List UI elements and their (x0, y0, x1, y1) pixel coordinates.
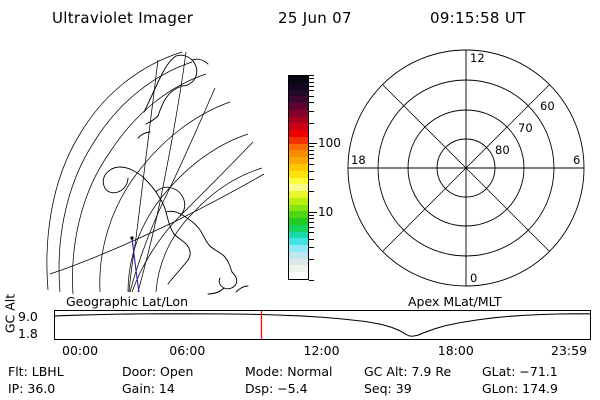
colorbar-band-3 (289, 252, 308, 259)
colorbar-minor-tick (309, 215, 314, 216)
observation-time: 09:15:58 UT (430, 9, 526, 27)
instrument-title: Ultraviolet Imager (52, 9, 193, 27)
colorbar-band-19 (289, 144, 308, 151)
colorbar-minor-tick (309, 179, 314, 180)
altitude-axis-title-gc: GC (3, 315, 18, 333)
time-tick-0000: 00:00 (62, 343, 98, 358)
mlat-label-70: 70 (518, 121, 533, 135)
colorbar-band-2 (289, 259, 308, 266)
colorbar-band-0 (289, 272, 308, 279)
time-tick-0600: 06:00 (169, 343, 205, 358)
apex-polar-panel[interactable]: 60 70 80 12 6 0 18 (337, 42, 595, 294)
colorbar-band-16 (289, 164, 308, 171)
colorbar-minor-tick (309, 232, 314, 233)
colorbar-minor-tick (309, 158, 314, 159)
colorbar-minor-tick (309, 164, 314, 165)
altitude-timeline-plot[interactable] (54, 310, 591, 340)
colorbar-band-6 (289, 232, 308, 239)
colorbar-band-5 (289, 238, 308, 245)
status-readout: Flt: LBHL Door: Open Mode: Normal GC Alt… (0, 363, 600, 397)
colorbar-minor-tick (309, 75, 314, 76)
colorbar-minor-tick (309, 78, 314, 79)
status-ip: IP: 36.0 (8, 380, 55, 397)
colorbar-band-13 (289, 184, 308, 191)
altitude-ytick-low: 1.8 (18, 326, 38, 341)
colorbar-scale[interactable] (288, 75, 309, 280)
colorbar-band-27 (289, 90, 308, 97)
colorbar-band-9 (289, 211, 308, 218)
colorbar-band-1 (289, 265, 308, 272)
colorbar-band-24 (289, 110, 308, 117)
colorbar-band-10 (289, 205, 308, 212)
colorbar-band-20 (289, 137, 308, 144)
geographic-map-panel[interactable] (40, 42, 265, 294)
time-tick-2359: 23:59 (551, 343, 587, 358)
mlat-label-60: 60 (540, 99, 555, 113)
status-seq: Seq: 39 (364, 380, 412, 397)
colorbar-minor-tick (309, 123, 314, 124)
colorbar-group[interactable]: photon cm-2s-1 10010 (266, 60, 338, 295)
colorbar-minor-tick (309, 222, 314, 223)
colorbar-band-15 (289, 171, 308, 178)
longitude-grid-lines (50, 52, 264, 292)
mlat-label-80: 80 (495, 143, 510, 157)
geographic-panel-caption: Geographic Lat/Lon (66, 294, 188, 309)
colorbar-minor-tick (309, 218, 314, 219)
colorbar-minor-tick (309, 90, 314, 91)
mlat-ring-labels: 60 70 80 (495, 99, 555, 157)
status-door: Door: Open (122, 363, 193, 380)
observation-date: 25 Jun 07 (278, 9, 352, 27)
colorbar-tick-label-10: 10 (318, 206, 333, 218)
colorbar-band-25 (289, 103, 308, 110)
colorbar-band-23 (289, 117, 308, 124)
colorbar-band-28 (289, 83, 308, 90)
mlt-label-18: 18 (351, 153, 366, 167)
mlt-label-6: 6 (573, 153, 580, 167)
colorbar-minor-tick (309, 146, 314, 147)
apex-panel-caption: Apex MLat/MLT (408, 294, 502, 309)
apex-polar-svg: 60 70 80 12 6 0 18 (337, 42, 595, 294)
altitude-axis-title-alt: Alt (3, 294, 18, 311)
colorbar-minor-tick (309, 191, 314, 192)
colorbar-minor-tick (309, 86, 314, 87)
colorbar-minor-tick (309, 227, 314, 228)
pole-marker (130, 236, 133, 239)
colorbar-minor-tick (309, 239, 314, 240)
colorbar-band-29 (289, 76, 308, 83)
colorbar-band-12 (289, 191, 308, 198)
colorbar-band-18 (289, 150, 308, 157)
colorbar-band-7 (289, 225, 308, 232)
colorbar-minor-tick (309, 154, 314, 155)
time-tick-1200: 12:00 (304, 343, 340, 358)
uv-imager-display: Ultraviolet Imager 25 Jun 07 09:15:58 UT (0, 0, 600, 400)
status-gain: Gain: 14 (122, 380, 175, 397)
altitude-trace (55, 314, 590, 336)
header-bar: Ultraviolet Imager 25 Jun 07 09:15:58 UT (0, 6, 600, 30)
status-gcalt: GC Alt: 7.9 Re (364, 363, 451, 380)
colorbar-minor-tick (309, 102, 314, 103)
colorbar-band-21 (289, 130, 308, 137)
colorbar-band-4 (289, 245, 308, 252)
geographic-map-svg (40, 42, 265, 294)
mlt-label-12: 12 (470, 51, 485, 65)
status-mode: Mode: Normal (245, 363, 332, 380)
colorbar-band-22 (289, 123, 308, 130)
coastline-outline (103, 55, 248, 294)
colorbar-band-11 (289, 198, 308, 205)
colorbar-minor-tick (309, 171, 314, 172)
altitude-ytick-high: 9.0 (18, 309, 38, 324)
colorbar-band-14 (289, 178, 308, 185)
status-row-2: IP: 36.0 Gain: 14 Dsp: −5.4 Seq: 39 GLon… (0, 380, 600, 397)
time-axis-ticks: 00:0006:0012:0018:0023:59 (0, 343, 600, 359)
colorbar-major-tick-100 (309, 143, 317, 144)
colorbar-minor-tick (309, 82, 314, 83)
status-glon: GLon: 174.9 (482, 380, 558, 397)
colorbar-band-26 (289, 96, 308, 103)
colorbar-band-8 (289, 218, 308, 225)
colorbar-band-17 (289, 157, 308, 164)
status-flt: Flt: LBHL (8, 363, 64, 380)
status-glat: GLat: −71.1 (482, 363, 558, 380)
mlt-spokes (348, 50, 584, 286)
colorbar-minor-tick (309, 150, 314, 151)
colorbar-minor-tick (309, 259, 314, 260)
time-tick-1800: 18:00 (438, 343, 474, 358)
colorbar-minor-tick (309, 247, 314, 248)
mlt-label-0: 0 (470, 271, 477, 285)
colorbar-major-tick-10 (309, 212, 317, 213)
colorbar-minor-tick (309, 111, 314, 112)
colorbar-minor-tick (309, 96, 314, 97)
status-dsp: Dsp: −5.4 (245, 380, 308, 397)
colorbar-minor-tick (309, 280, 314, 281)
altitude-timeline-svg (55, 311, 590, 339)
altitude-axis-title: GC Alt (3, 291, 18, 337)
status-row-1: Flt: LBHL Door: Open Mode: Normal GC Alt… (0, 363, 600, 380)
